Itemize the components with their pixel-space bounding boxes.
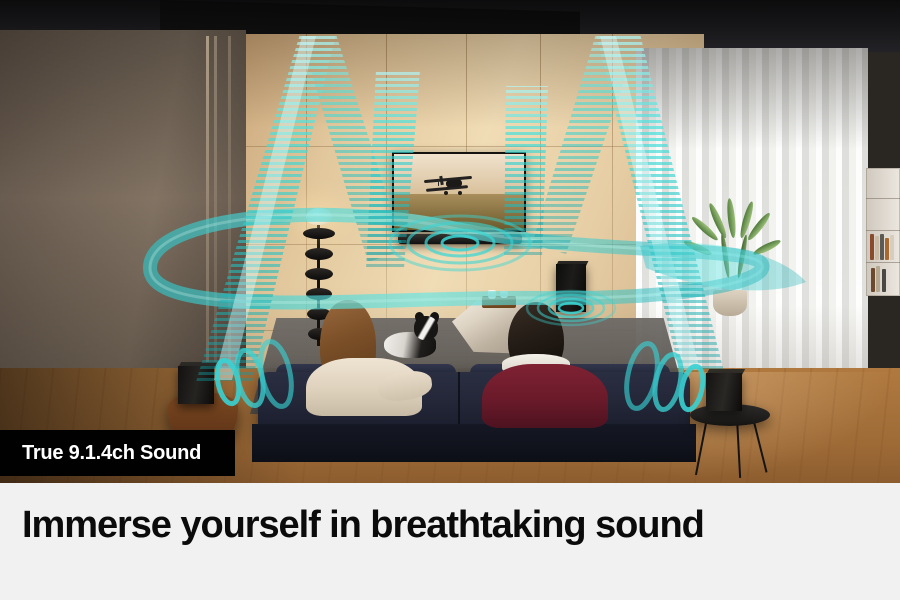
bookshelf bbox=[866, 168, 900, 296]
rear-speaker-right bbox=[706, 373, 742, 411]
sofa-base bbox=[252, 424, 696, 462]
plant-pot bbox=[713, 290, 747, 316]
soundbar bbox=[398, 234, 522, 244]
man-body bbox=[482, 364, 608, 428]
cup bbox=[488, 290, 496, 299]
tv-screen bbox=[394, 154, 524, 230]
hero-banner: True 9.1.4ch Sound Immerse yourself in b… bbox=[0, 0, 900, 600]
headline: Immerse yourself in breathtaking sound bbox=[22, 506, 704, 544]
caption-bar: Immerse yourself in breathtaking sound bbox=[0, 483, 900, 600]
rear-speaker-left bbox=[178, 366, 214, 404]
lamp-globe bbox=[306, 208, 332, 225]
hero-photo bbox=[0, 0, 900, 483]
feature-badge-label: True 9.1.4ch Sound bbox=[22, 443, 201, 463]
subwoofer bbox=[556, 264, 586, 312]
curtains-shading bbox=[636, 48, 868, 386]
tray bbox=[482, 296, 516, 308]
feature-badge: True 9.1.4ch Sound bbox=[0, 430, 235, 476]
cup bbox=[500, 291, 508, 298]
